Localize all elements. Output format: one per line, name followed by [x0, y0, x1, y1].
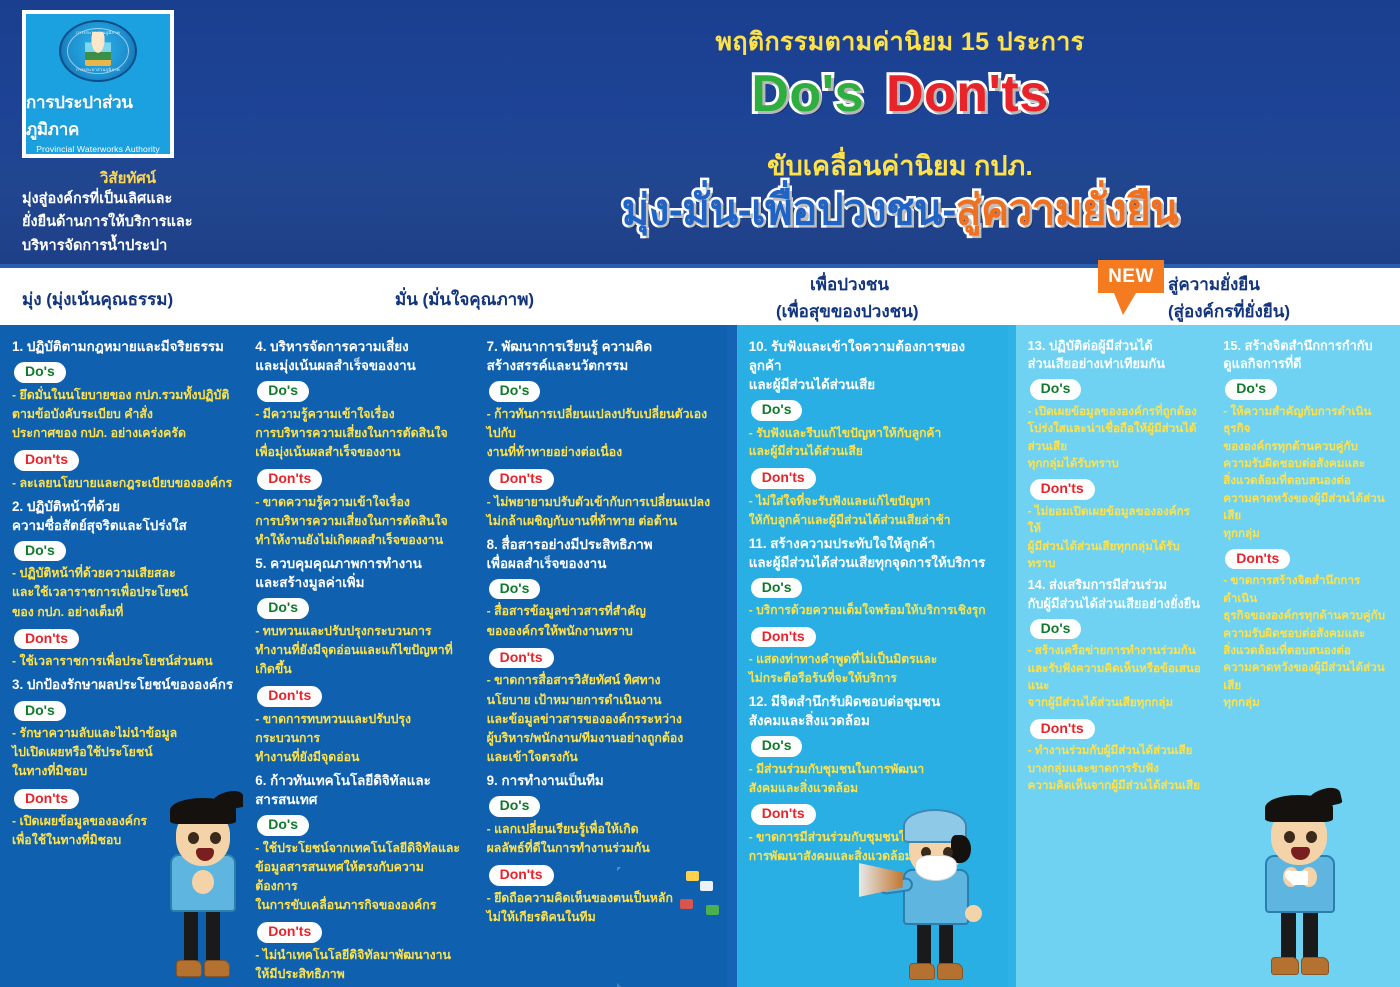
value-header-sustain: สู่ความยั่งยืน	[1168, 271, 1260, 298]
dos-tag: Do's	[489, 579, 541, 600]
pwa-seal-icon: การประปาส่วนภูมิภาค การประปาส่วนภูมิภาค	[59, 20, 137, 82]
donts-tag-row: Don'ts	[255, 919, 464, 946]
donts-bullet: - ไม่พยายามปรับตัวเข้ากับการเปลี่ยนแปลง …	[487, 493, 717, 531]
dos-tag-row: Do's	[255, 378, 464, 405]
donts-bullet: - ทำงานร่วมกับผู้มีส่วนได้ส่วนเสีย บางกล…	[1028, 742, 1202, 794]
dos-bullet: - ก้าวทันการเปลี่ยนแปลงปรับเปลี่ยนตัวเอง…	[487, 405, 717, 463]
donts-tag-row: Don'ts	[12, 626, 233, 653]
logo-thai-name: การประปาส่วนภูมิภาค	[26, 89, 170, 143]
dos-bullet: - มีความรู้ความเข้าใจเรื่อง การบริหารควา…	[255, 405, 464, 463]
donts-tag-row: Don'ts	[12, 786, 233, 813]
donts-tag-row: Don'ts	[487, 645, 717, 672]
donts-tag: Don'ts	[257, 469, 322, 490]
behaviour-item-title: 5. ควบคุมคุณภาพการทำงาน และสร้างมูลค่าเพ…	[255, 554, 464, 592]
dos-bullet: - บริการด้วยความเต็มใจพร้อมให้บริการเชิง…	[749, 601, 998, 620]
donts-tag: Don'ts	[14, 450, 79, 471]
donts-bullet: - แสดงท่าทางคำพูดที่ไม่เป็นมิตรและ ไม่กร…	[749, 650, 998, 688]
tech-icon-1	[700, 881, 713, 891]
dos-tag: Do's	[489, 381, 541, 402]
dos-tag-row: Do's	[12, 359, 233, 386]
dos-tag: Do's	[1030, 619, 1082, 640]
donts-tag: Don'ts	[257, 922, 322, 943]
title-donts-word: Don'ts	[886, 65, 1049, 123]
behaviour-item-title: 8. สื่อสารอย่างมีประสิทธิภาพ เพื่อผลสำเร…	[487, 535, 717, 573]
mascot-heart-hands-icon	[1239, 791, 1359, 987]
value-header-mung: มุ่ง (มุ่งเน้นคุณธรรม)	[22, 286, 173, 313]
dos-bullet: - มีส่วนร่วมกับชุมชนในการพัฒนา สังคมและส…	[749, 760, 998, 798]
donts-tag: Don'ts	[751, 468, 816, 489]
poster-root: การประปาส่วนภูมิภาค การประปาส่วนภูมิภาค …	[0, 0, 1400, 987]
column-sustain-2: 15. สร้างจิตสำนึกการกำกับ ดูแลกิจการที่ด…	[1211, 325, 1400, 987]
behaviour-item-title: 9. การทำงานเป็นทีม	[487, 771, 717, 790]
columns-container: 1. ปฏิบัติตามกฎหมายและมีจริยธรรมDo's- ยึ…	[0, 325, 1400, 987]
dos-tag: Do's	[751, 736, 803, 757]
dos-tag: Do's	[14, 362, 66, 383]
donts-bullet: - ใช้เวลาราชการเพื่อประโยชน์ส่วนตน	[12, 652, 233, 671]
behaviour-item-title: 15. สร้างจิตสำนึกการกำกับ ดูแลกิจการที่ด…	[1223, 337, 1390, 373]
dos-tag-row: Do's	[255, 595, 464, 622]
dos-bullet: - ทบทวนและปรับปรุงกระบวนการ ทำงานที่ยังม…	[255, 622, 464, 680]
column-people: 10. รับฟังและเข้าใจความต้องการของลูกค้า …	[737, 325, 1008, 987]
behaviour-item-title: 14. ส่งเสริมการมีส่วนร่วม กับผู้มีส่วนได…	[1028, 576, 1202, 612]
value-header-mun: มั่น (มั่นใจคุณภาพ)	[395, 286, 534, 313]
slogan-orange-part: สู่ความยั่งยืน	[956, 186, 1179, 233]
donts-tag: Don'ts	[751, 804, 816, 825]
donts-tag: Don'ts	[1030, 719, 1095, 740]
behaviour-item-title: 12. มีจิตสำนึกรับผิดชอบต่อชุมชน สังคมและ…	[749, 692, 998, 730]
dos-tag-row: Do's	[487, 378, 717, 405]
dos-tag: Do's	[257, 381, 309, 402]
dos-tag: Do's	[14, 541, 66, 562]
value-headers-bar: มุ่ง (มุ่งเน้นคุณธรรม) มั่น (มั่นใจคุณภา…	[0, 268, 1400, 325]
column-mung-2: 4. บริหารจัดการความเสี่ยง และมุ่งเน้นผลส…	[243, 325, 474, 987]
dos-tag-row: Do's	[1028, 616, 1202, 643]
seal-figure-icon	[85, 32, 111, 66]
behaviour-item-title: 4. บริหารจัดการความเสี่ยง และมุ่งเน้นผลส…	[255, 337, 464, 375]
dos-tag: Do's	[257, 598, 309, 619]
donts-bullet: - ไม่นำเทคโนโลยีดิจิทัลมาพัฒนางาน ให้มีป…	[255, 946, 464, 984]
dos-tag: Do's	[751, 400, 803, 421]
new-badge: NEW	[1098, 260, 1164, 293]
column-mung-1: 1. ปฏิบัติตามกฎหมายและมีจริยธรรมDo's- ยึ…	[0, 325, 243, 987]
donts-bullet: - ไม่ใส่ใจที่จะรับฟังและแก้ไขปัญหา ให้กั…	[749, 492, 998, 530]
donts-tag-row: Don'ts	[749, 801, 998, 828]
dos-tag: Do's	[489, 796, 541, 817]
donts-tag-row: Don'ts	[12, 447, 233, 474]
title-dos-word: Do's	[751, 65, 864, 123]
behaviour-item-title: 13. ปฏิบัติต่อผู้มีส่วนได้ ส่วนเสียอย่าง…	[1028, 337, 1202, 373]
donts-tag: Don'ts	[489, 648, 554, 669]
tech-icon-4	[686, 871, 699, 881]
dos-bullet: - สร้างเครือข่ายการทำงานร่วมกัน และรับฟั…	[1028, 642, 1202, 712]
donts-bullet: - ขาดการสร้างจิตสำนึกการดำเนิน ธุรกิจของ…	[1223, 572, 1390, 711]
behaviour-item-title: 2. ปฏิบัติหน้าที่ด้วย ความซื่อสัตย์สุจริ…	[12, 497, 233, 535]
vision-text: มุ่งสู่องค์กรที่เป็นเลิศและ ยั่งยืนด้านก…	[22, 188, 237, 258]
dos-tag-row: Do's	[12, 538, 233, 565]
donts-tag: Don'ts	[1030, 479, 1095, 500]
donts-tag-row: Don'ts	[749, 624, 998, 651]
donts-bullet: - ขาดการมีส่วนร่วมกับชุมชนใน การพัฒนาสัง…	[749, 828, 998, 866]
slogan: มุ่ง-มั่น-เพื่อปวงชน-สู่ความยั่งยืน	[400, 188, 1400, 232]
dos-tag-row: Do's	[749, 575, 998, 602]
donts-tag: Don'ts	[14, 789, 79, 810]
donts-tag-row: Don'ts	[487, 466, 717, 493]
pwa-logo: การประปาส่วนภูมิภาค การประปาส่วนภูมิภาค …	[22, 10, 174, 158]
dos-bullet: - ใช้ประโยชน์จากเทคโนโลยีดิจิทัลและ ข้อม…	[255, 839, 464, 916]
dos-bullet: - สื่อสารข้อมูลข่าวสารที่สำคัญ ขององค์กร…	[487, 602, 717, 640]
donts-bullet: - ขาดความรู้ความเข้าใจเรื่อง การบริหารคว…	[255, 493, 464, 551]
dos-tag: Do's	[257, 815, 309, 836]
donts-tag: Don'ts	[751, 627, 816, 648]
donts-tag: Don'ts	[257, 686, 322, 707]
value-header-people-sub: (เพื่อสุขของปวงชน)	[776, 298, 918, 325]
drive-values-line: ขับเคลื่อนค่านิยม กปภ.	[400, 144, 1400, 187]
dos-tag-row: Do's	[1223, 376, 1390, 403]
behaviour-item-title: 7. พัฒนาการเรียนรู้ ความคิด สร้างสรรค์แล…	[487, 337, 717, 375]
donts-bullet: - ขาดการทบทวนและปรับปรุงกระบวนการ ทำงานท…	[255, 710, 464, 768]
behaviour-item-title: 6. ก้าวทันเทคโนโลยีดิจิทัลและสารสนเทศ	[255, 771, 464, 809]
donts-bullet: - ขาดการสื่อสารวิสัยทัศน์ ทิศทาง นโยบาย …	[487, 671, 717, 767]
donts-tag: Don'ts	[1225, 549, 1290, 570]
behaviour-item-title: 1. ปฏิบัติตามกฎหมายและมีจริยธรรม	[12, 337, 233, 356]
tech-icon-2	[680, 899, 693, 909]
column-divider-2	[1008, 325, 1016, 987]
megaphone-icon	[859, 863, 903, 897]
donts-tag-row: Don'ts	[1223, 546, 1390, 573]
tech-icon-3	[706, 905, 719, 915]
column-sustain-1: 13. ปฏิบัติต่อผู้มีส่วนได้ ส่วนเสียอย่าง…	[1016, 325, 1212, 987]
dos-tag-row: Do's	[1028, 376, 1202, 403]
behaviour-item-title: 11. สร้างความประทับใจให้ลูกค้า และผู้มีส…	[749, 534, 998, 572]
donts-tag-row: Don'ts	[1028, 476, 1202, 503]
vision-label: วิสัยทัศน์	[100, 166, 156, 190]
donts-tag: Don'ts	[14, 629, 79, 650]
value-header-sustain-sub: (สู่องค์กรที่ยั่งยืน)	[1168, 298, 1290, 325]
dos-tag: Do's	[1225, 379, 1277, 400]
dos-tag-row: Do's	[487, 576, 717, 603]
dos-tag: Do's	[14, 701, 66, 722]
behaviour-item-title: 3. ปกป้องรักษาผลประโยชน์ขององค์กร	[12, 675, 233, 694]
dos-bullet: - ให้ความสำคัญกับการดำเนินธุรกิจ ขององค์…	[1223, 403, 1390, 542]
seal-arc-bottom-text: การประปาส่วนภูมิภาค	[61, 68, 135, 72]
column-divider-1	[727, 325, 737, 987]
donts-tag: Don'ts	[489, 469, 554, 490]
donts-bullet: - ไม่ยอมเปิดเผยข้อมูลขององค์กรให้ ผู้มีส…	[1028, 503, 1202, 573]
dos-tag-row: Do's	[749, 397, 998, 424]
slogan-blue-part: มุ่ง-มั่น-เพื่อปวงชน-	[622, 186, 956, 233]
column-mun: 7. พัฒนาการเรียนรู้ ความคิด สร้างสรรค์แล…	[475, 325, 727, 987]
dos-tag: Do's	[751, 578, 803, 599]
dos-bullet: - ปฏิบัติหน้าที่ด้วยความเสียสละ และใช้เว…	[12, 564, 233, 622]
logo-english-name: Provincial Waterworks Authority	[36, 144, 160, 154]
donts-tag-row: Don'ts	[749, 465, 998, 492]
dos-bullet: - แลกเปลี่ยนเรียนรู้เพื่อให้เกิด ผลลัพธ์…	[487, 820, 717, 858]
dos-tag: Do's	[1030, 379, 1082, 400]
donts-bullet: - เปิดเผยข้อมูลขององค์กร เพื่อใช้ในทางที…	[12, 812, 233, 850]
poster-subtitle: พฤติกรรมตามค่านิยม 15 ประการ	[400, 22, 1400, 62]
dos-tag-row: Do's	[255, 812, 464, 839]
dos-tag-row: Do's	[487, 793, 717, 820]
behaviour-item-title: 10. รับฟังและเข้าใจความต้องการของลูกค้า …	[749, 337, 998, 394]
dos-bullet: - รับฟังและรีบแก้ไขปัญหาให้กับลูกค้า และ…	[749, 424, 998, 462]
donts-bullet: - ละเลยนโยบายและกฎระเบียบขององค์กร	[12, 474, 233, 493]
dos-donts-title: Do'sDon'ts	[400, 68, 1400, 120]
donts-tag-row: Don'ts	[1028, 716, 1202, 743]
dos-tag-row: Do's	[12, 698, 233, 725]
donts-tag: Don'ts	[489, 865, 554, 886]
dos-bullet: - ยึดมั่นในนโยบายของ กปภ.รวมทั้งปฏิบัติ …	[12, 386, 233, 444]
dos-bullet: - รักษาความลับและไม่นำข้อมูล ไปเปิดเผยหร…	[12, 724, 233, 782]
donts-tag-row: Don'ts	[255, 683, 464, 710]
dos-tag-row: Do's	[749, 733, 998, 760]
dos-bullet: - เปิดเผยข้อมูลขององค์กรที่ถูกต้อง โปร่ง…	[1028, 403, 1202, 473]
donts-tag-row: Don'ts	[255, 466, 464, 493]
poster-header: การประปาส่วนภูมิภาค การประปาส่วนภูมิภาค …	[0, 0, 1400, 268]
